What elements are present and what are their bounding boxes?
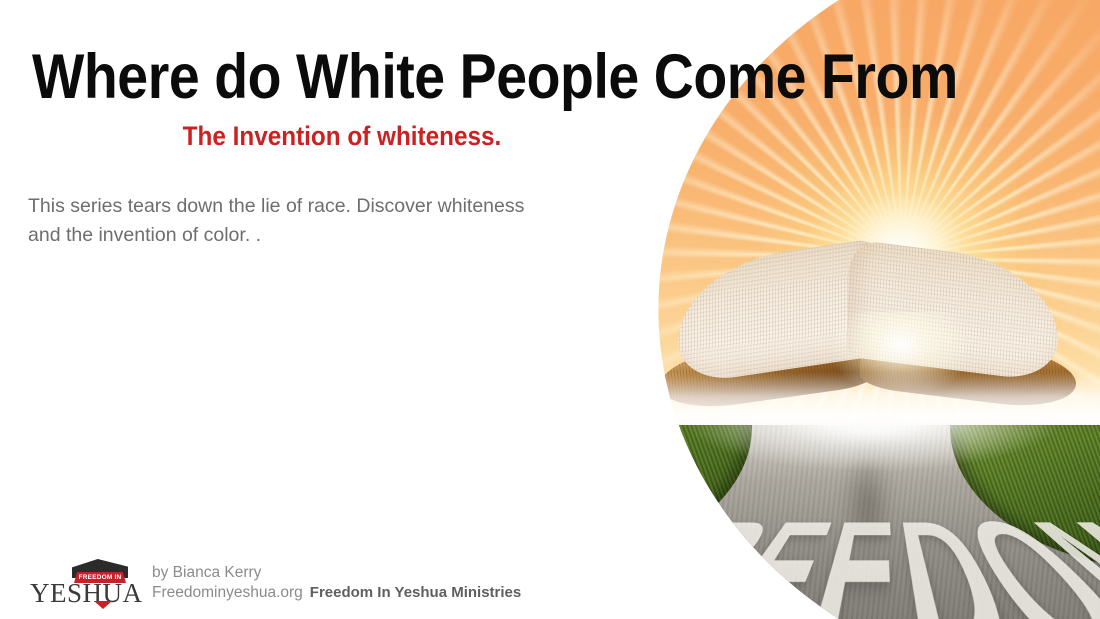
website-link[interactable]: Freedominyeshua.org: [152, 583, 303, 603]
page-subtitle: The Invention of whiteness.: [63, 120, 621, 152]
yeshua-logo[interactable]: FREEDOM IN YESHUA: [30, 557, 138, 609]
ministry-name: Freedom In Yeshua Ministries: [310, 583, 521, 603]
footer: FREEDOM IN YESHUA by Bianca Kerry Freedo…: [30, 557, 521, 609]
credits-block: by Bianca Kerry Freedominyeshua.org Free…: [152, 563, 521, 603]
road-scene: FREEDOM: [640, 425, 1100, 619]
red-triangle-icon: [94, 601, 112, 609]
author-line: by Bianca Kerry: [152, 563, 521, 583]
series-description: This series tears down the lie of race. …: [28, 192, 608, 250]
logo-wordmark: YESHUA: [30, 578, 143, 609]
website-and-ministry-line: Freedominyeshua.org Freedom In Yeshua Mi…: [152, 583, 521, 603]
page-title: Where do White People Come From: [32, 46, 613, 108]
horizon-light-flare: [640, 425, 1100, 495]
slide-canvas: FREEDOM Where do White People Come From …: [0, 0, 1100, 619]
